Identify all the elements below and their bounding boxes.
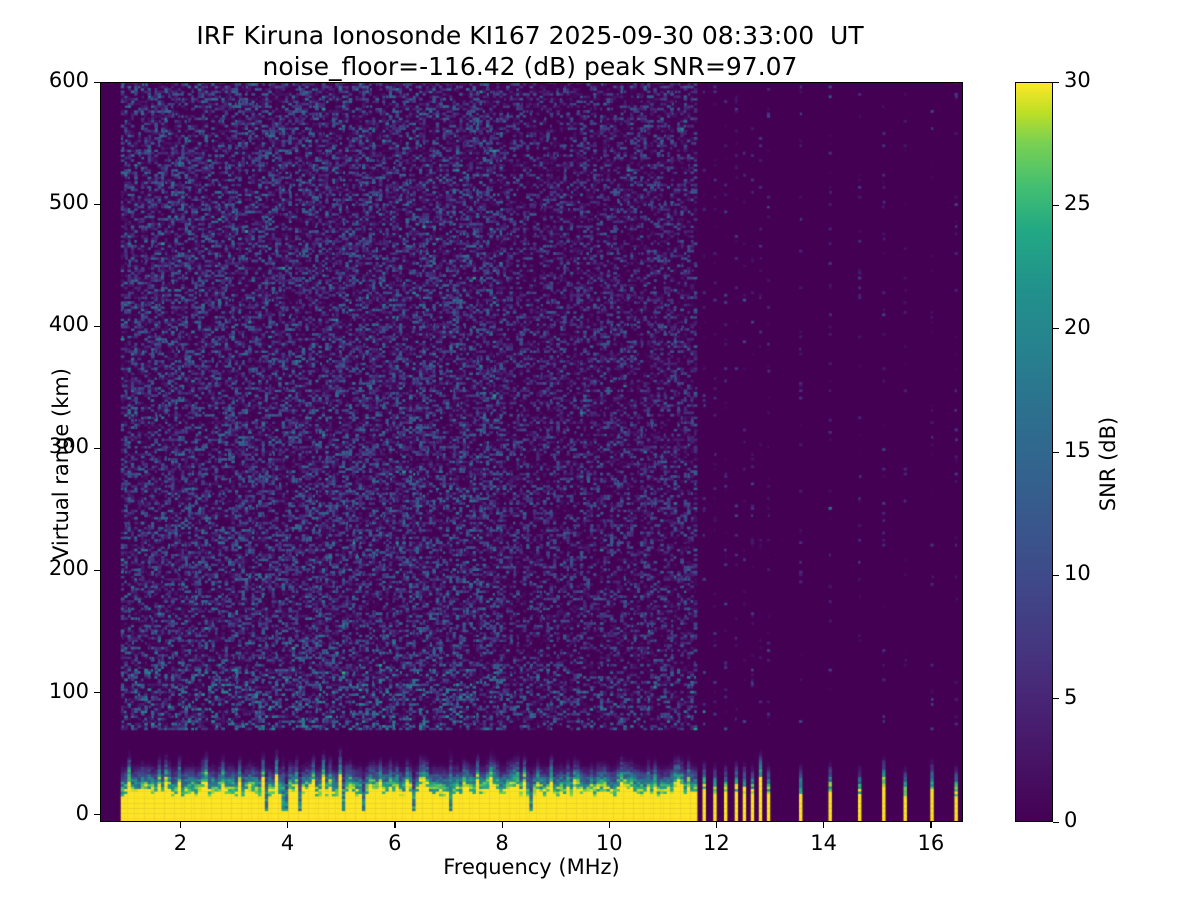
colorbar-tick-label: 15 bbox=[1064, 438, 1091, 462]
x-tick-mark bbox=[930, 822, 931, 828]
x-tick-mark bbox=[180, 822, 181, 828]
x-axis-label: Frequency (MHz) bbox=[100, 855, 963, 879]
y-tick-mark bbox=[94, 82, 100, 83]
x-tick-mark bbox=[609, 822, 610, 828]
x-tick-label: 12 bbox=[686, 831, 746, 855]
colorbar-tick-label: 5 bbox=[1064, 685, 1077, 709]
y-tick-label: 600 bbox=[49, 68, 89, 92]
colorbar-tick-label: 20 bbox=[1064, 315, 1091, 339]
colorbar-tick-mark bbox=[1053, 328, 1059, 329]
y-tick-label: 200 bbox=[49, 556, 89, 580]
y-tick-mark bbox=[94, 448, 100, 449]
x-tick-mark bbox=[716, 822, 717, 828]
x-tick-label: 2 bbox=[150, 831, 210, 855]
x-tick-label: 6 bbox=[365, 831, 425, 855]
ionogram-figure: IRF Kiruna Ionosonde KI167 2025-09-30 08… bbox=[0, 0, 1200, 900]
plot-area[interactable] bbox=[100, 82, 963, 822]
y-tick-mark bbox=[94, 692, 100, 693]
colorbar-tick-label: 25 bbox=[1064, 191, 1091, 215]
y-tick-label: 300 bbox=[49, 434, 89, 458]
x-tick-mark bbox=[823, 822, 824, 828]
y-tick-label: 100 bbox=[49, 679, 89, 703]
y-tick-mark bbox=[94, 570, 100, 571]
colorbar-tick-mark bbox=[1053, 452, 1059, 453]
title-line-2: noise_floor=-116.42 (dB) peak SNR=97.07 bbox=[0, 51, 1060, 82]
y-tick-mark bbox=[94, 814, 100, 815]
x-tick-label: 16 bbox=[901, 831, 961, 855]
ionogram-heatmap[interactable] bbox=[101, 83, 963, 822]
title-line-1: IRF Kiruna Ionosonde KI167 2025-09-30 08… bbox=[0, 20, 1060, 51]
y-tick-mark bbox=[94, 326, 100, 327]
colorbar-tick-label: 0 bbox=[1064, 808, 1077, 832]
colorbar-tick-mark bbox=[1053, 575, 1059, 576]
x-tick-mark bbox=[394, 822, 395, 828]
colorbar-tick-mark bbox=[1053, 698, 1059, 699]
colorbar-tick-mark bbox=[1053, 82, 1059, 83]
y-tick-mark bbox=[94, 204, 100, 205]
colorbar-tick-label: 30 bbox=[1064, 68, 1091, 92]
colorbar-label: SNR (dB) bbox=[1096, 164, 1120, 764]
y-tick-label: 400 bbox=[49, 312, 89, 336]
x-tick-mark bbox=[502, 822, 503, 828]
y-axis-label: Virtual range (km) bbox=[49, 164, 73, 764]
x-tick-label: 8 bbox=[472, 831, 532, 855]
x-tick-label: 4 bbox=[258, 831, 318, 855]
x-tick-mark bbox=[287, 822, 288, 828]
x-tick-label: 10 bbox=[579, 831, 639, 855]
y-tick-label: 0 bbox=[76, 801, 89, 825]
colorbar-tick-mark bbox=[1053, 822, 1059, 823]
colorbar-tick-mark bbox=[1053, 205, 1059, 206]
x-tick-label: 14 bbox=[794, 831, 854, 855]
colorbar-tick-label: 10 bbox=[1064, 561, 1091, 585]
colorbar[interactable] bbox=[1015, 82, 1053, 822]
y-tick-label: 500 bbox=[49, 190, 89, 214]
page-title: IRF Kiruna Ionosonde KI167 2025-09-30 08… bbox=[0, 20, 1060, 82]
